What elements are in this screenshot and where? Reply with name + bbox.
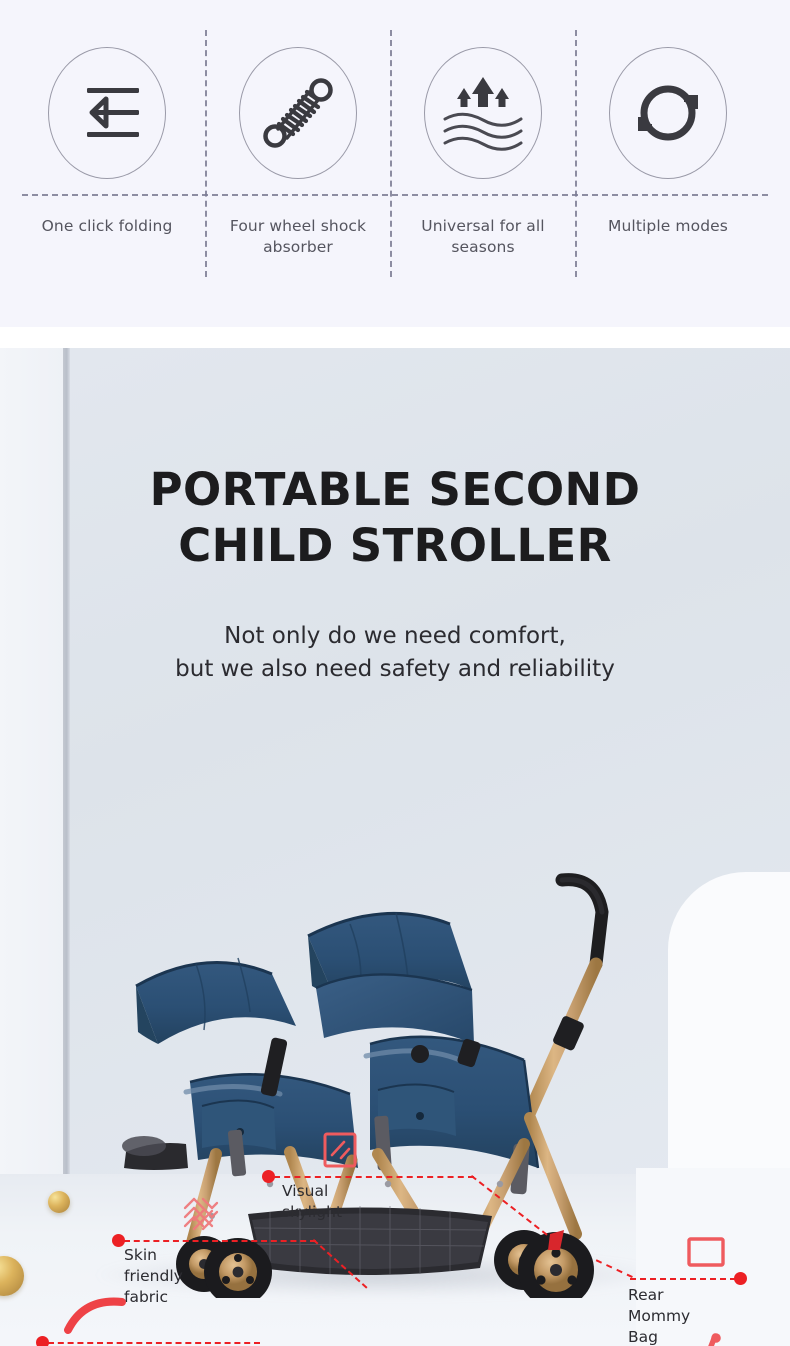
callout-line	[48, 1342, 260, 1344]
callout-label: Rear Mommy Bag	[628, 1285, 690, 1346]
coil-spring-glyph	[257, 72, 339, 154]
rear-seat	[366, 1037, 538, 1168]
page-subtitle: Not only do we need comfort, but we also…	[0, 620, 790, 686]
rear-canopy	[308, 913, 474, 1044]
page-title: PORTABLE SECOND CHILD STROLLER	[0, 462, 790, 574]
callout-line	[124, 1240, 316, 1242]
collapse-left-icon	[47, 47, 167, 179]
skylight-icon	[322, 1131, 358, 1169]
backdrop-white-card	[668, 872, 790, 1172]
stroller-handle	[562, 880, 602, 964]
feature-label: One click folding	[14, 216, 200, 237]
front-canopy	[136, 958, 296, 1044]
callout-dot	[36, 1336, 49, 1346]
callout-line	[630, 1278, 736, 1280]
callout-label: Visual skylight	[282, 1181, 342, 1223]
feature-label: Multiple modes	[575, 216, 761, 237]
bag-rectangle-icon	[686, 1236, 726, 1268]
seated-person-icon	[684, 1330, 728, 1346]
decor-gold-sphere-small	[48, 1191, 70, 1213]
feature-bar: One click folding	[0, 0, 790, 327]
callout-line	[274, 1176, 474, 1178]
hero-product-photo: PORTABLE SECOND CHILD STROLLER Not only …	[0, 348, 790, 1346]
feature-item-shock-absorber[interactable]: Four wheel shock absorber	[205, 0, 391, 327]
stroller-illustration	[120, 868, 680, 1298]
page-title-line1: PORTABLE SECOND	[0, 462, 790, 518]
coil-spring-icon	[238, 47, 358, 179]
canopy-arc-icon	[62, 1292, 142, 1334]
collapse-left-glyph	[70, 82, 144, 144]
breathable-airflow-glyph	[441, 75, 525, 151]
page-title-line2: CHILD STROLLER	[0, 518, 790, 574]
rotate-refresh-glyph	[628, 73, 708, 153]
feature-item-multiple-modes[interactable]: Multiple modes	[575, 0, 761, 327]
woven-fabric-icon	[182, 1196, 220, 1232]
breathable-airflow-icon	[423, 47, 543, 179]
rotate-refresh-icon	[608, 47, 728, 179]
feature-label: Four wheel shock absorber	[205, 216, 391, 258]
product-detail-page: One click folding	[0, 0, 790, 1346]
page-subtitle-line1: Not only do we need comfort,	[0, 620, 790, 653]
feature-label: Universal for all seasons	[390, 216, 576, 258]
page-subtitle-line2: but we also need safety and reliability	[0, 653, 790, 686]
feature-item-all-seasons[interactable]: Universal for all seasons	[390, 0, 576, 327]
feature-item-one-click-folding[interactable]: One click folding	[14, 0, 200, 327]
